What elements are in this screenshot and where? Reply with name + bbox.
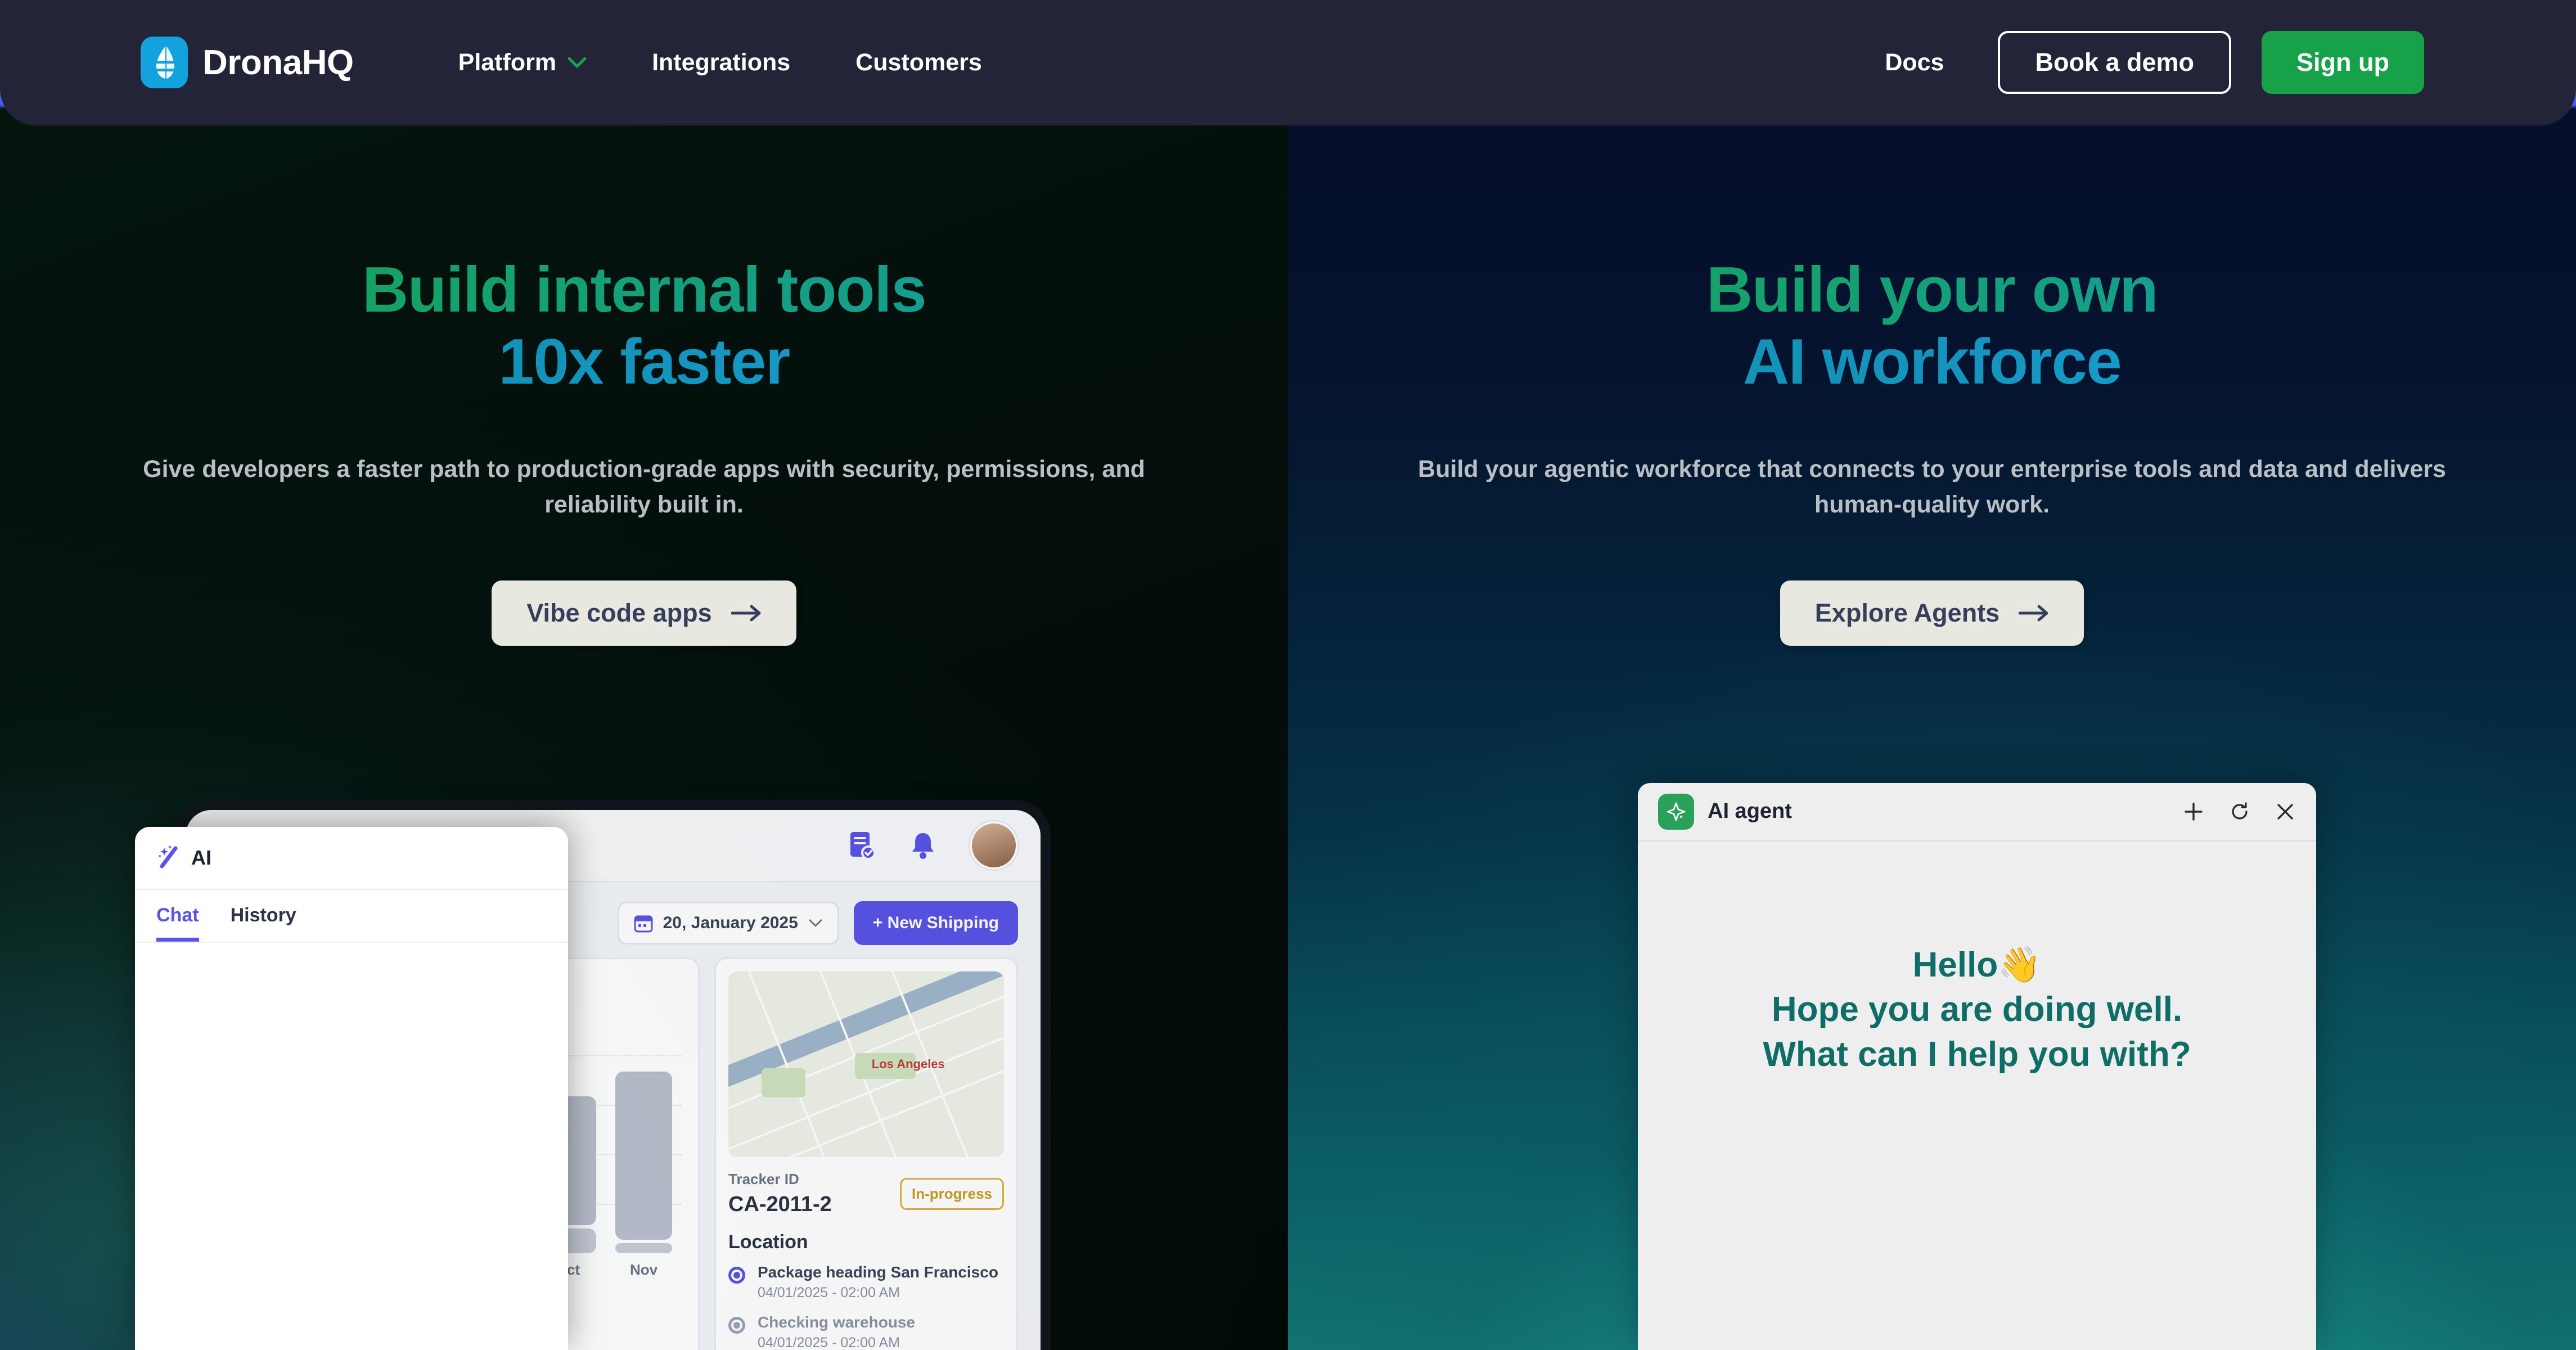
map-thumbnail[interactable]: Los Angeles bbox=[728, 971, 1004, 1157]
chart-bar bbox=[615, 1072, 672, 1240]
step-dot-icon bbox=[728, 1317, 745, 1334]
shipment-tracker-card: Los Angeles Tracker ID CA-2011-2 In-prog… bbox=[714, 957, 1018, 1350]
date-picker-value: 20, January 2025 bbox=[663, 913, 798, 933]
chart-bar-group[interactable] bbox=[615, 1006, 672, 1253]
ai-chat-tabs: Chat History bbox=[135, 890, 568, 943]
dronahq-logo-icon bbox=[141, 37, 188, 88]
hero-left-heading-line2: 10x faster bbox=[0, 326, 1288, 398]
nav-links: Platform Integrations Customers bbox=[426, 49, 1015, 76]
dashboard-topbar-actions bbox=[848, 821, 1018, 870]
nav-item-platform-label: Platform bbox=[458, 49, 556, 76]
arrow-right-icon bbox=[731, 605, 762, 622]
ai-agent-body: Hello👋 Hope you are doing well. What can… bbox=[1638, 841, 2316, 1077]
calendar-icon bbox=[634, 913, 653, 933]
ai-chat-header: AI bbox=[135, 827, 568, 890]
ai-chat-body[interactable] bbox=[135, 943, 568, 1350]
hero-left-heading-line1: Build internal tools bbox=[0, 254, 1288, 326]
explore-agents-label: Explore Agents bbox=[1815, 598, 1999, 628]
chart-x-tick: Nov bbox=[615, 1261, 672, 1279]
vibe-code-apps-label: Vibe code apps bbox=[526, 598, 711, 628]
close-icon[interactable] bbox=[2275, 801, 2296, 822]
tracker-id-value: CA-2011-2 bbox=[728, 1192, 832, 1217]
hero-right-subtitle: Build your agentic workforce that connec… bbox=[1288, 452, 2576, 522]
ai-chat-popup: AI Chat History bbox=[135, 827, 568, 1350]
chevron-down-icon bbox=[808, 919, 823, 928]
new-shipping-button[interactable]: + New Shipping bbox=[854, 901, 1018, 945]
chevron-down-icon bbox=[568, 56, 587, 69]
location-step-text: Package heading San Francisco bbox=[758, 1263, 998, 1281]
agent-greeting-line1: Hello👋 bbox=[1672, 943, 2282, 987]
ai-agent-title: AI agent bbox=[1708, 799, 1792, 823]
step-dot-icon bbox=[728, 1267, 745, 1284]
sparkle-icon bbox=[1658, 794, 1694, 830]
top-navigation-bar: DronaHQ Platform Integrations Customers … bbox=[0, 0, 2576, 125]
refresh-icon[interactable] bbox=[2228, 800, 2251, 823]
ai-agent-panel: AI agent Hello👋 Hope you are doing well.… bbox=[1638, 783, 2316, 1350]
location-title: Location bbox=[728, 1231, 1004, 1253]
nav-item-customers-label: Customers bbox=[855, 49, 982, 76]
sign-up-button[interactable]: Sign up bbox=[2262, 31, 2424, 94]
magic-wand-icon bbox=[156, 845, 181, 871]
hero-left-heading: Build internal tools 10x faster bbox=[0, 254, 1288, 398]
new-chat-icon[interactable] bbox=[2182, 800, 2205, 823]
tracker-id-label: Tracker ID bbox=[728, 1171, 832, 1188]
hero-right-heading-line2: AI workforce bbox=[1288, 326, 2576, 398]
chart-bar bbox=[615, 1243, 672, 1253]
map-city-label: Los Angeles bbox=[872, 1057, 945, 1072]
nav-item-customers[interactable]: Customers bbox=[823, 49, 1015, 76]
tab-history[interactable]: History bbox=[231, 890, 296, 942]
hero-left-subtitle: Give developers a faster path to product… bbox=[0, 452, 1288, 522]
date-picker[interactable]: 20, January 2025 bbox=[618, 902, 839, 944]
nav-item-docs[interactable]: Docs bbox=[1851, 49, 1978, 76]
book-a-demo-button[interactable]: Book a demo bbox=[1998, 31, 2231, 94]
agent-greeting-line2: Hope you are doing well. bbox=[1672, 987, 2282, 1032]
document-check-icon[interactable] bbox=[848, 830, 876, 861]
hero-left-cta-wrap: Vibe code apps bbox=[0, 580, 1288, 646]
tab-chat[interactable]: Chat bbox=[156, 890, 199, 942]
nav-item-integrations-label: Integrations bbox=[652, 49, 790, 76]
arrow-right-icon bbox=[2019, 605, 2049, 622]
location-step-text: Checking warehouse bbox=[758, 1313, 915, 1331]
tracker-row: Tracker ID CA-2011-2 In-progress bbox=[728, 1171, 1004, 1217]
ai-agent-header: AI agent bbox=[1638, 783, 2316, 841]
location-step-time: 04/01/2025 - 02:00 AM bbox=[758, 1335, 915, 1350]
ai-agent-controls bbox=[2182, 800, 2296, 823]
location-step: Checking warehouse 04/01/2025 - 02:00 AM bbox=[728, 1313, 1004, 1350]
bell-icon[interactable] bbox=[910, 831, 936, 860]
location-step: Package heading San Francisco 04/01/2025… bbox=[728, 1263, 1004, 1301]
status-badge: In-progress bbox=[900, 1178, 1004, 1210]
ai-chat-title: AI bbox=[191, 846, 211, 870]
landing-page: DronaHQ Platform Integrations Customers … bbox=[0, 0, 2576, 1350]
vibe-code-apps-button[interactable]: Vibe code apps bbox=[492, 580, 796, 646]
hero-right-heading-line1: Build your own bbox=[1288, 254, 2576, 326]
location-step-time: 04/01/2025 - 02:00 AM bbox=[758, 1285, 998, 1301]
brand-name: DronaHQ bbox=[202, 43, 354, 83]
hero-right-cta-wrap: Explore Agents bbox=[1288, 580, 2576, 646]
explore-agents-button[interactable]: Explore Agents bbox=[1780, 580, 2084, 646]
agent-greeting-line3: What can I help you with? bbox=[1672, 1032, 2282, 1077]
hero-right-heading: Build your own AI workforce bbox=[1288, 254, 2576, 398]
nav-actions: Docs Book a demo Sign up bbox=[1851, 31, 2424, 94]
brand-logo[interactable]: DronaHQ bbox=[141, 37, 354, 88]
nav-item-integrations[interactable]: Integrations bbox=[619, 49, 823, 76]
nav-item-platform[interactable]: Platform bbox=[426, 49, 619, 76]
user-avatar[interactable] bbox=[970, 821, 1018, 870]
